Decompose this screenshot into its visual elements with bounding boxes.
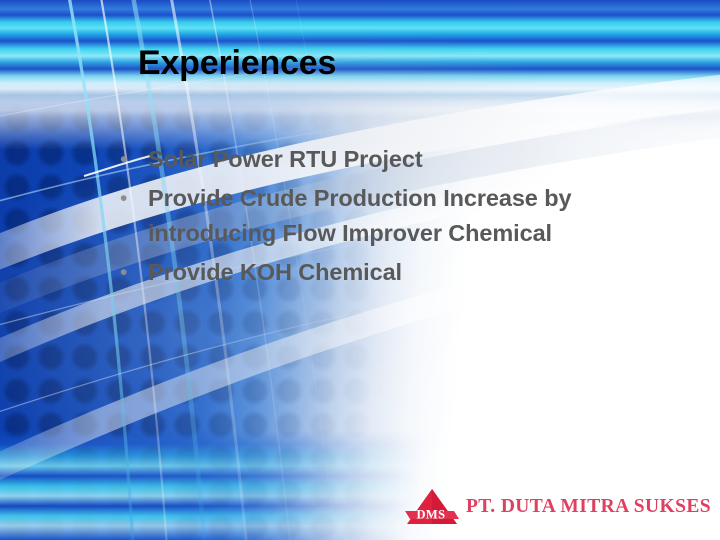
bullet-point-icon: • <box>114 142 148 177</box>
list-item: • Provide Crude Production Increase by i… <box>114 181 684 251</box>
svg-text:DMS: DMS <box>417 507 446 521</box>
bullet-text: Provide KOH Chemical <box>148 255 684 290</box>
list-item: • Provide KOH Chemical <box>114 255 684 290</box>
bullet-point-icon: • <box>114 255 148 290</box>
company-logo: DMS PT. DUTA MITRA SUKSES <box>404 484 711 530</box>
bullet-text: Provide Crude Production Increase by int… <box>148 181 684 251</box>
slide-title: Experiences <box>138 44 336 83</box>
bullet-text: Solar Power RTU Project <box>148 142 684 177</box>
company-name-text: PT. DUTA MITRA SUKSES <box>466 496 711 518</box>
list-item: • Solar Power RTU Project <box>114 142 684 177</box>
bullet-list: • Solar Power RTU Project • Provide Crud… <box>114 142 684 294</box>
dms-triangle-logo-icon: DMS <box>404 486 460 528</box>
presentation-slide: Experiences • Solar Power RTU Project • … <box>0 0 720 540</box>
bullet-point-icon: • <box>114 181 148 216</box>
slide-content: Experiences • Solar Power RTU Project • … <box>0 0 720 540</box>
